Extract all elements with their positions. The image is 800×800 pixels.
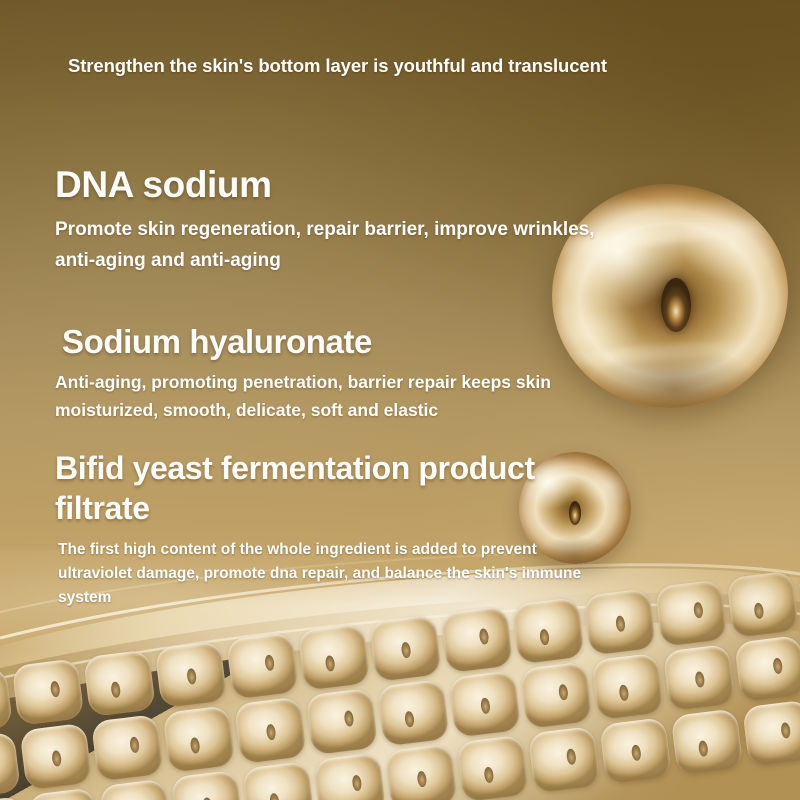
capsule (456, 735, 529, 800)
capsule (162, 705, 235, 773)
capsule (91, 714, 164, 782)
capsule (0, 732, 21, 800)
capsule (0, 796, 29, 800)
capsule (663, 644, 736, 712)
capsule (83, 649, 156, 717)
ingredient-section-dna-sodium: DNA sodium Promote skin regeneration, re… (55, 163, 615, 276)
capsule (170, 770, 243, 800)
capsule (742, 700, 800, 768)
ingredient-description: Promote skin regeneration, repair barrie… (55, 214, 615, 276)
capsule (234, 696, 307, 764)
capsule (591, 653, 664, 721)
capsule (448, 670, 521, 738)
capsule (377, 679, 450, 747)
capsule (385, 743, 458, 800)
capsule (297, 623, 370, 691)
ingredient-title: DNA sodium (55, 163, 615, 206)
capsule (528, 726, 601, 794)
ingredient-description: The first high content of the whole ingr… (58, 538, 615, 610)
capsule (20, 723, 93, 791)
ingredient-section-sodium-hyaluronate: Sodium hyaluronate Anti-aging, promoting… (62, 322, 622, 424)
ingredient-section-bifid-yeast: Bifid yeast fermentation product filtrat… (55, 448, 615, 610)
capsule (726, 570, 799, 638)
capsule (440, 606, 513, 674)
capsule (99, 778, 172, 800)
capsule (242, 761, 315, 800)
ingredient-title: Sodium hyaluronate (62, 322, 622, 362)
capsule (12, 658, 85, 726)
capsule (655, 579, 728, 647)
capsule (313, 752, 386, 800)
capsule (0, 667, 13, 735)
capsule (734, 635, 800, 703)
ingredient-description: Anti-aging, promoting penetration, barri… (55, 368, 622, 424)
ingredient-infographic: Strengthen the skin's bottom layer is yo… (0, 0, 800, 800)
ingredient-title: Bifid yeast fermentation product filtrat… (55, 448, 615, 528)
capsule (599, 717, 672, 785)
capsule (27, 787, 100, 800)
headline: Strengthen the skin's bottom layer is yo… (68, 55, 748, 77)
capsule (520, 661, 593, 729)
capsule (155, 641, 228, 709)
capsule (305, 688, 378, 756)
sphere-core (661, 278, 691, 332)
capsule (226, 632, 299, 700)
capsule (369, 614, 442, 682)
capsule (671, 708, 744, 776)
